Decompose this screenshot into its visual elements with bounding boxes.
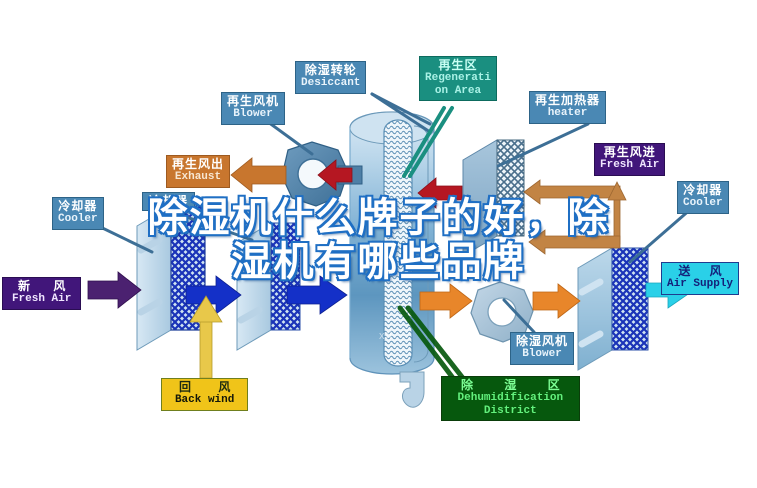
label-dehumidification-district[interactable]: 除 湿 区 Dehumidification District: [441, 376, 580, 421]
label-cooler-left-en: Cooler: [58, 213, 98, 225]
label-cooler-mid[interactable]: 冷却器: [142, 192, 195, 211]
drain-pan: [400, 372, 424, 407]
label-regen-exhaust-cn: 再生风出: [172, 158, 224, 171]
label-regeneration-area-en1: Regenerati: [425, 72, 491, 84]
label-cooler-right-cn: 冷却器: [683, 184, 723, 197]
label-dehumidification-district-cn: 除 湿 区: [447, 379, 574, 392]
regen-air-arrow-lower: [529, 230, 620, 254]
label-desiccant-rotor-en: Desiccant: [301, 77, 360, 89]
label-regeneration-area-en2: on Area: [425, 85, 491, 97]
label-regen-blower-en: Blower: [227, 108, 279, 120]
label-dehumid-blower-en: Blower: [516, 348, 568, 360]
label-back-wind-cn: 回 风: [167, 381, 242, 394]
label-air-supply-cn: 送 风: [667, 265, 733, 278]
label-regen-fresh-air[interactable]: 再生风进 Fresh Air: [594, 143, 665, 176]
label-regen-heater[interactable]: 再生加热器 heater: [529, 91, 606, 124]
label-regeneration-area-cn: 再生区: [425, 59, 491, 72]
label-cooler-right[interactable]: 冷却器 Cooler: [677, 181, 729, 214]
label-cooler-left[interactable]: 冷却器 Cooler: [52, 197, 104, 230]
label-regen-exhaust[interactable]: 再生风出 Exhaust: [166, 155, 230, 188]
label-desiccant-rotor[interactable]: 除湿转轮 Desiccant: [295, 61, 366, 94]
label-fresh-air-inlet-cn: 新 风: [8, 280, 75, 293]
watermark-text: xfi: [379, 330, 393, 342]
label-cooler-right-en: Cooler: [683, 197, 723, 209]
label-back-wind[interactable]: 回 风 Back wind: [161, 378, 248, 411]
label-dehumid-blower-cn: 除湿风机: [516, 335, 568, 348]
label-regen-blower-cn: 再生风机: [227, 95, 279, 108]
label-air-supply[interactable]: 送 风 Air Supply: [661, 262, 739, 295]
label-dehumidification-district-en1: Dehumidification: [447, 392, 574, 404]
label-fresh-air-inlet-en: Fresh Air: [8, 293, 75, 305]
cooler-coil-right: [578, 248, 648, 370]
label-dehumid-blower[interactable]: 除湿风机 Blower: [510, 332, 574, 365]
label-regen-fresh-air-en: Fresh Air: [600, 159, 659, 171]
label-regen-fresh-air-cn: 再生风进: [600, 146, 659, 159]
label-fresh-air-inlet[interactable]: 新 风 Fresh Air: [2, 277, 81, 310]
dry-air-arrow-2: [533, 284, 580, 318]
label-cooler-mid-cn: 冷却器: [149, 195, 188, 208]
label-regen-heater-en: heater: [535, 107, 600, 119]
label-cooler-left-cn: 冷却器: [58, 200, 98, 213]
fresh-air-arrow: [88, 272, 141, 308]
label-regen-heater-cn: 再生加热器: [535, 94, 600, 107]
diagram-canvas: xfi 除湿转轮 Desiccant 再生风机 Blower 再生风出 Exha…: [0, 0, 757, 488]
label-regen-blower[interactable]: 再生风机 Blower: [221, 92, 285, 125]
label-air-supply-en: Air Supply: [667, 278, 733, 290]
label-back-wind-en: Back wind: [167, 394, 242, 406]
label-regeneration-area[interactable]: 再生区 Regenerati on Area: [419, 56, 497, 101]
schematic-illustration: [0, 0, 757, 488]
exhaust-arrow: [231, 158, 286, 192]
regen-air-arrow-horizontal: [524, 180, 620, 204]
cooler-coil-left: [137, 206, 205, 350]
label-dehumidification-district-en2: District: [447, 405, 574, 417]
label-regen-exhaust-en: Exhaust: [172, 171, 224, 183]
label-desiccant-rotor-cn: 除湿转轮: [301, 64, 360, 77]
